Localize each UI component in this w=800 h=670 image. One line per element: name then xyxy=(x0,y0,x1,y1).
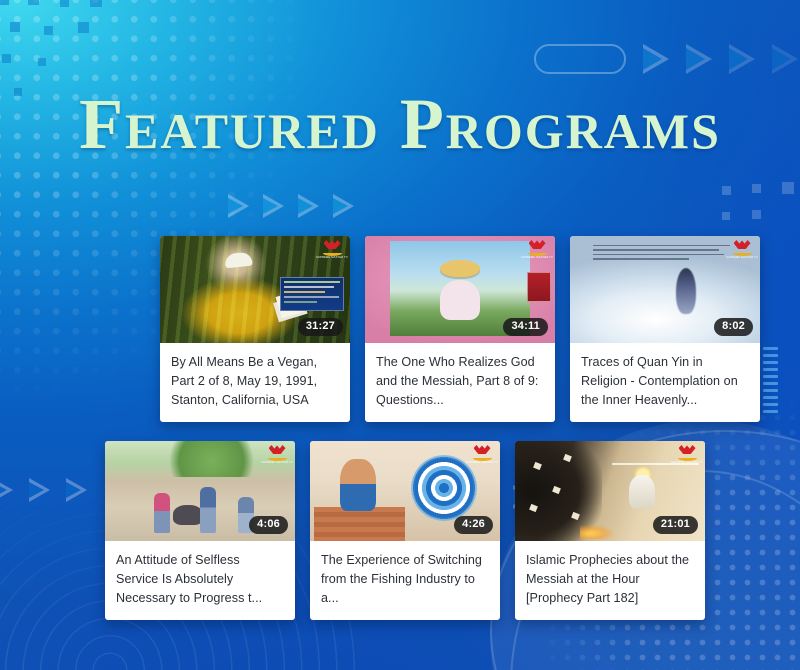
program-card[interactable]: SUPREME MASTER TV 34:11 The One Who Real… xyxy=(365,236,555,422)
card-title[interactable]: Islamic Prophecies about the Messiah at … xyxy=(515,541,705,620)
duration-badge: 34:11 xyxy=(503,318,548,336)
card-title[interactable]: The Experience of Switching from the Fis… xyxy=(310,541,500,620)
thumbnail-islamic-prophecies[interactable]: SUPREME MASTER TV 21:01 xyxy=(515,441,705,541)
play-triangle-row-title xyxy=(228,194,354,218)
artwork-person xyxy=(154,493,170,533)
channel-logo-icon: SUPREME MASTER TV xyxy=(320,240,344,262)
artwork-steps xyxy=(314,507,405,541)
duration-badge: 4:06 xyxy=(249,516,288,534)
card-title[interactable]: An Attitude of Selfless Service Is Absol… xyxy=(105,541,295,620)
duration-badge: 8:02 xyxy=(714,318,753,336)
artwork-person xyxy=(200,487,216,533)
program-card[interactable]: SUPREME MASTER TV 4:26 The Experience of… xyxy=(310,441,500,620)
duration-badge: 4:26 xyxy=(454,516,493,534)
play-triangle-icon xyxy=(0,478,13,502)
play-triangle-icon-2 xyxy=(686,44,712,74)
top-right-decoration xyxy=(534,44,798,74)
page-title: Featured Programs xyxy=(0,88,800,160)
artwork-figure xyxy=(629,475,655,509)
artwork-figure xyxy=(340,459,376,511)
play-triangle-row-left xyxy=(0,478,87,502)
channel-logo-icon: SUPREME MASTER TV xyxy=(525,240,549,262)
play-triangle-icon xyxy=(29,478,50,502)
artwork-tree xyxy=(158,441,264,477)
artwork-hat xyxy=(440,260,480,277)
program-card[interactable]: SUPREME MASTER TV 4:06 An Attitude of Se… xyxy=(105,441,295,620)
pill-outline-shape xyxy=(534,44,626,74)
artwork-sidebox xyxy=(527,272,551,302)
channel-logo-icon: SUPREME MASTER TV xyxy=(730,240,754,262)
play-triangle-icon xyxy=(228,194,249,218)
program-card[interactable]: SUPREME MASTER TV 8:02 Traces of Quan Yi… xyxy=(570,236,760,422)
duration-badge: 21:01 xyxy=(653,516,698,534)
artwork-buffalo xyxy=(173,505,203,525)
play-triangle-icon-1 xyxy=(643,44,669,74)
thumbnail-realizes-god[interactable]: SUPREME MASTER TV 34:11 xyxy=(365,236,555,343)
play-triangle-icon xyxy=(333,194,354,218)
play-triangle-icon-4 xyxy=(772,44,798,74)
card-title[interactable]: The One Who Realizes God and the Messiah… xyxy=(365,343,555,422)
play-triangle-icon-3 xyxy=(729,44,755,74)
artwork-flare xyxy=(580,525,614,539)
card-row-top: SUPREME MASTER TV 31:27 By All Means Be … xyxy=(160,236,760,422)
thumbnail-quan-yin[interactable]: SUPREME MASTER TV 8:02 xyxy=(570,236,760,343)
channel-logo-icon: SUPREME MASTER TV xyxy=(675,445,699,467)
artwork-text-overlay xyxy=(593,245,730,271)
artwork-robe xyxy=(440,280,480,320)
play-triangle-icon xyxy=(298,194,319,218)
thumbnail-fishing-industry[interactable]: SUPREME MASTER TV 4:26 xyxy=(310,441,500,541)
thumbnail-selfless-service[interactable]: SUPREME MASTER TV 4:06 xyxy=(105,441,295,541)
artwork-cap xyxy=(224,252,252,269)
duration-badge: 31:27 xyxy=(298,318,343,336)
play-triangle-icon xyxy=(66,478,87,502)
channel-logo-icon: SUPREME MASTER TV xyxy=(265,445,289,467)
artwork-infobox xyxy=(280,277,344,311)
page-background: Featured Programs SUPREME MASTER TV 31:2… xyxy=(0,0,800,670)
card-row-bottom: SUPREME MASTER TV 4:06 An Attitude of Se… xyxy=(105,441,705,620)
card-title[interactable]: Traces of Quan Yin in Religion - Contemp… xyxy=(570,343,760,422)
card-title[interactable]: By All Means Be a Vegan, Part 2 of 8, Ma… xyxy=(160,343,350,422)
play-triangle-icon xyxy=(263,194,284,218)
program-card[interactable]: SUPREME MASTER TV 21:01 Islamic Propheci… xyxy=(515,441,705,620)
equalizer-column xyxy=(763,347,778,413)
artwork-water-vortex xyxy=(411,455,477,521)
program-card[interactable]: SUPREME MASTER TV 31:27 By All Means Be … xyxy=(160,236,350,422)
artwork-figure xyxy=(676,268,696,314)
thumbnail-vegan-lecture[interactable]: SUPREME MASTER TV 31:27 xyxy=(160,236,350,343)
channel-logo-icon: SUPREME MASTER TV xyxy=(470,445,494,467)
